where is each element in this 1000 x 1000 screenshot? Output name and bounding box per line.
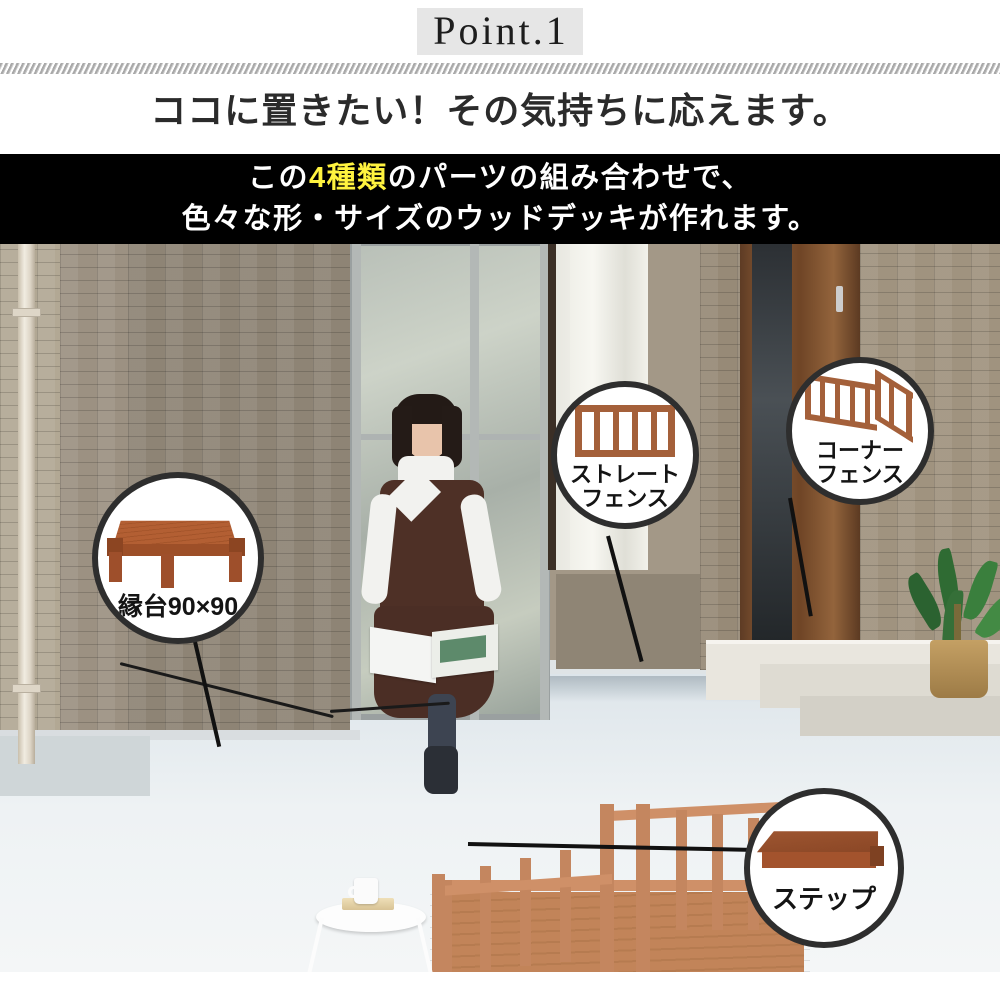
railing-baluster — [560, 850, 571, 962]
fence-top-rail — [575, 405, 675, 412]
fence-baluster — [889, 381, 894, 428]
engawa-bench-art — [103, 498, 253, 590]
banner-line1-pre: この — [248, 162, 309, 194]
fence-post — [875, 369, 881, 423]
callout-straight-fence[interactable]: ストレート フェンス — [551, 381, 699, 529]
straight-fence-art — [575, 405, 675, 457]
banner-line1-highlight: 4種類 — [309, 162, 388, 194]
fence-post — [575, 405, 582, 457]
fence-post-end — [906, 388, 912, 442]
callout-corner-fence-caption-1: コーナー — [816, 439, 904, 462]
railing-front-left-post — [432, 874, 445, 972]
step-right-face — [870, 846, 884, 866]
callout-engawa-caption: 縁台90×90 — [118, 594, 238, 620]
railing-baluster — [712, 814, 723, 930]
highlight-banner: この4種類のパーツの組み合わせで、 色々な形・サイズのウッドデッキが作れます。 — [0, 154, 1000, 244]
callout-corner-fence[interactable]: コーナー フェンス — [786, 357, 934, 505]
callout-straight-fence-caption-1: ストレート — [570, 463, 680, 486]
side-table — [316, 892, 432, 972]
banner-line-1: この4種類のパーツの組み合わせで、 — [248, 158, 752, 199]
drain-pipe-bracket-top — [12, 308, 41, 317]
wicker-basket — [930, 640, 988, 698]
callout-engawa[interactable]: 縁台90×90 — [92, 472, 264, 644]
corner-fence-return-panel — [875, 369, 913, 445]
railing-baluster — [676, 810, 687, 930]
bench-leg — [161, 554, 174, 588]
mug-handle — [348, 886, 358, 898]
window-post-left — [352, 244, 361, 720]
callout-step[interactable]: ステップ — [744, 788, 904, 948]
striped-divider — [0, 62, 1000, 75]
entry-door-handle-icon — [836, 286, 843, 312]
page-subtitle: ココに置きたい！その気持ちに応えます。 — [0, 82, 1000, 134]
fence-baluster — [850, 383, 855, 424]
step-art — [760, 822, 888, 886]
fence-baluster — [594, 409, 600, 453]
magazine-page-left — [370, 627, 436, 683]
fence-baluster — [835, 381, 840, 422]
callout-corner-fence-caption-2: フェンス — [816, 463, 904, 486]
fence-post-right — [668, 405, 675, 457]
fence-bottom-rail — [575, 450, 675, 457]
bench-leg — [229, 552, 242, 582]
corner-fence-long-panel — [805, 373, 877, 430]
fence-baluster — [865, 386, 870, 427]
banner-line1-post: のパーツの組み合わせで、 — [388, 162, 752, 194]
railing-corner-post — [600, 804, 614, 972]
railing-baluster — [520, 858, 531, 966]
corner-fence-art — [805, 379, 915, 433]
fence-baluster — [613, 409, 619, 453]
fence-post — [805, 373, 811, 420]
bench-leg — [109, 552, 122, 582]
railing-corner-post-2 — [636, 804, 650, 972]
magazine — [370, 624, 500, 682]
fence-baluster — [651, 409, 657, 453]
person-boot — [424, 746, 458, 794]
step-front-face — [762, 852, 876, 868]
fence-baluster — [820, 379, 825, 420]
page-root: Point.1 ココに置きたい！その気持ちに応えます。 この4種類のパーツの組み… — [0, 0, 1000, 1000]
banner-line-2: 色々な形・サイズのウッドデッキが作れます。 — [182, 199, 819, 240]
potted-plant — [916, 544, 1000, 704]
callout-step-caption: ステップ — [772, 886, 876, 913]
point-header: Point.1 — [0, 8, 1000, 55]
step-top-face — [757, 831, 878, 852]
point-label: Point.1 — [417, 8, 582, 55]
fence-baluster — [632, 409, 638, 453]
callout-straight-fence-caption-2: フェンス — [581, 487, 669, 510]
drain-pipe-bracket-bottom — [12, 684, 41, 693]
bench-front-apron — [113, 544, 237, 556]
